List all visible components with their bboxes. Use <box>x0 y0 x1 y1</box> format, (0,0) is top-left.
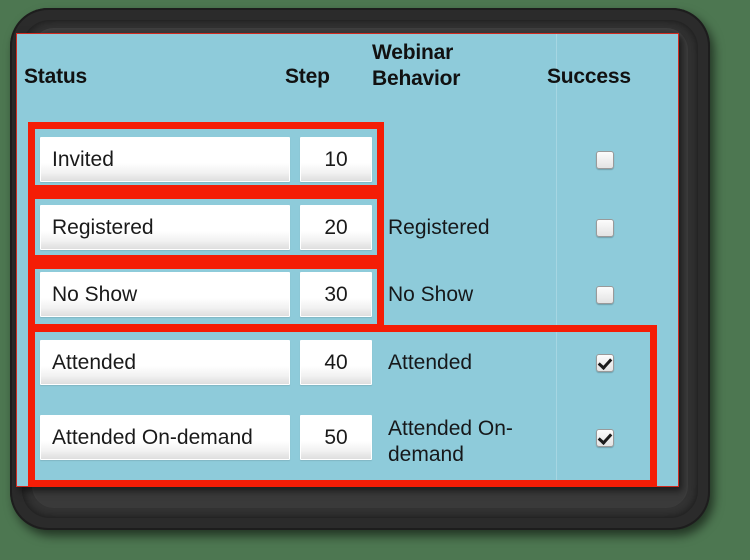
success-checkbox-cell <box>590 137 620 183</box>
table-row: Attended 40 Attended <box>0 340 750 386</box>
success-checkbox-cell <box>590 415 620 461</box>
success-checkbox[interactable] <box>596 286 614 304</box>
success-checkbox-cell <box>590 205 620 251</box>
column-header-webinar-behavior-line1: Webinar <box>372 40 522 66</box>
table-row: Registered 20 Registered <box>0 205 750 251</box>
table-row: Attended On-demand 50 Attended On-demand <box>0 415 750 461</box>
webinar-behavior-value: Attended On-demand <box>388 415 536 462</box>
success-checkbox[interactable] <box>596 219 614 237</box>
status-input[interactable]: Registered <box>40 205 290 250</box>
success-checkbox[interactable] <box>596 151 614 169</box>
status-input[interactable]: Invited <box>40 137 290 182</box>
status-input[interactable]: Attended <box>40 340 290 385</box>
webinar-behavior-value <box>388 137 536 183</box>
column-header-webinar-behavior: Webinar Behavior <box>372 40 522 93</box>
step-input[interactable]: 50 <box>300 415 372 460</box>
success-checkbox[interactable] <box>596 354 614 372</box>
webinar-behavior-value: Attended <box>388 340 536 386</box>
status-input[interactable]: Attended On-demand <box>40 415 290 460</box>
status-input[interactable]: No Show <box>40 272 290 317</box>
step-input[interactable]: 30 <box>300 272 372 317</box>
column-header-status: Status <box>24 65 87 89</box>
column-header-success: Success <box>547 65 631 89</box>
table-row: Invited 10 <box>0 137 750 183</box>
success-checkbox-cell <box>590 272 620 318</box>
success-checkbox-cell <box>590 340 620 386</box>
column-header-webinar-behavior-line2: Behavior <box>372 66 522 92</box>
webinar-behavior-value: No Show <box>388 272 536 318</box>
table-row: No Show 30 No Show <box>0 272 750 318</box>
step-input[interactable]: 10 <box>300 137 372 182</box>
step-input[interactable]: 20 <box>300 205 372 250</box>
webinar-behavior-value: Registered <box>388 205 536 251</box>
step-input[interactable]: 40 <box>300 340 372 385</box>
success-checkbox[interactable] <box>596 429 614 447</box>
column-header-step: Step <box>285 65 330 89</box>
